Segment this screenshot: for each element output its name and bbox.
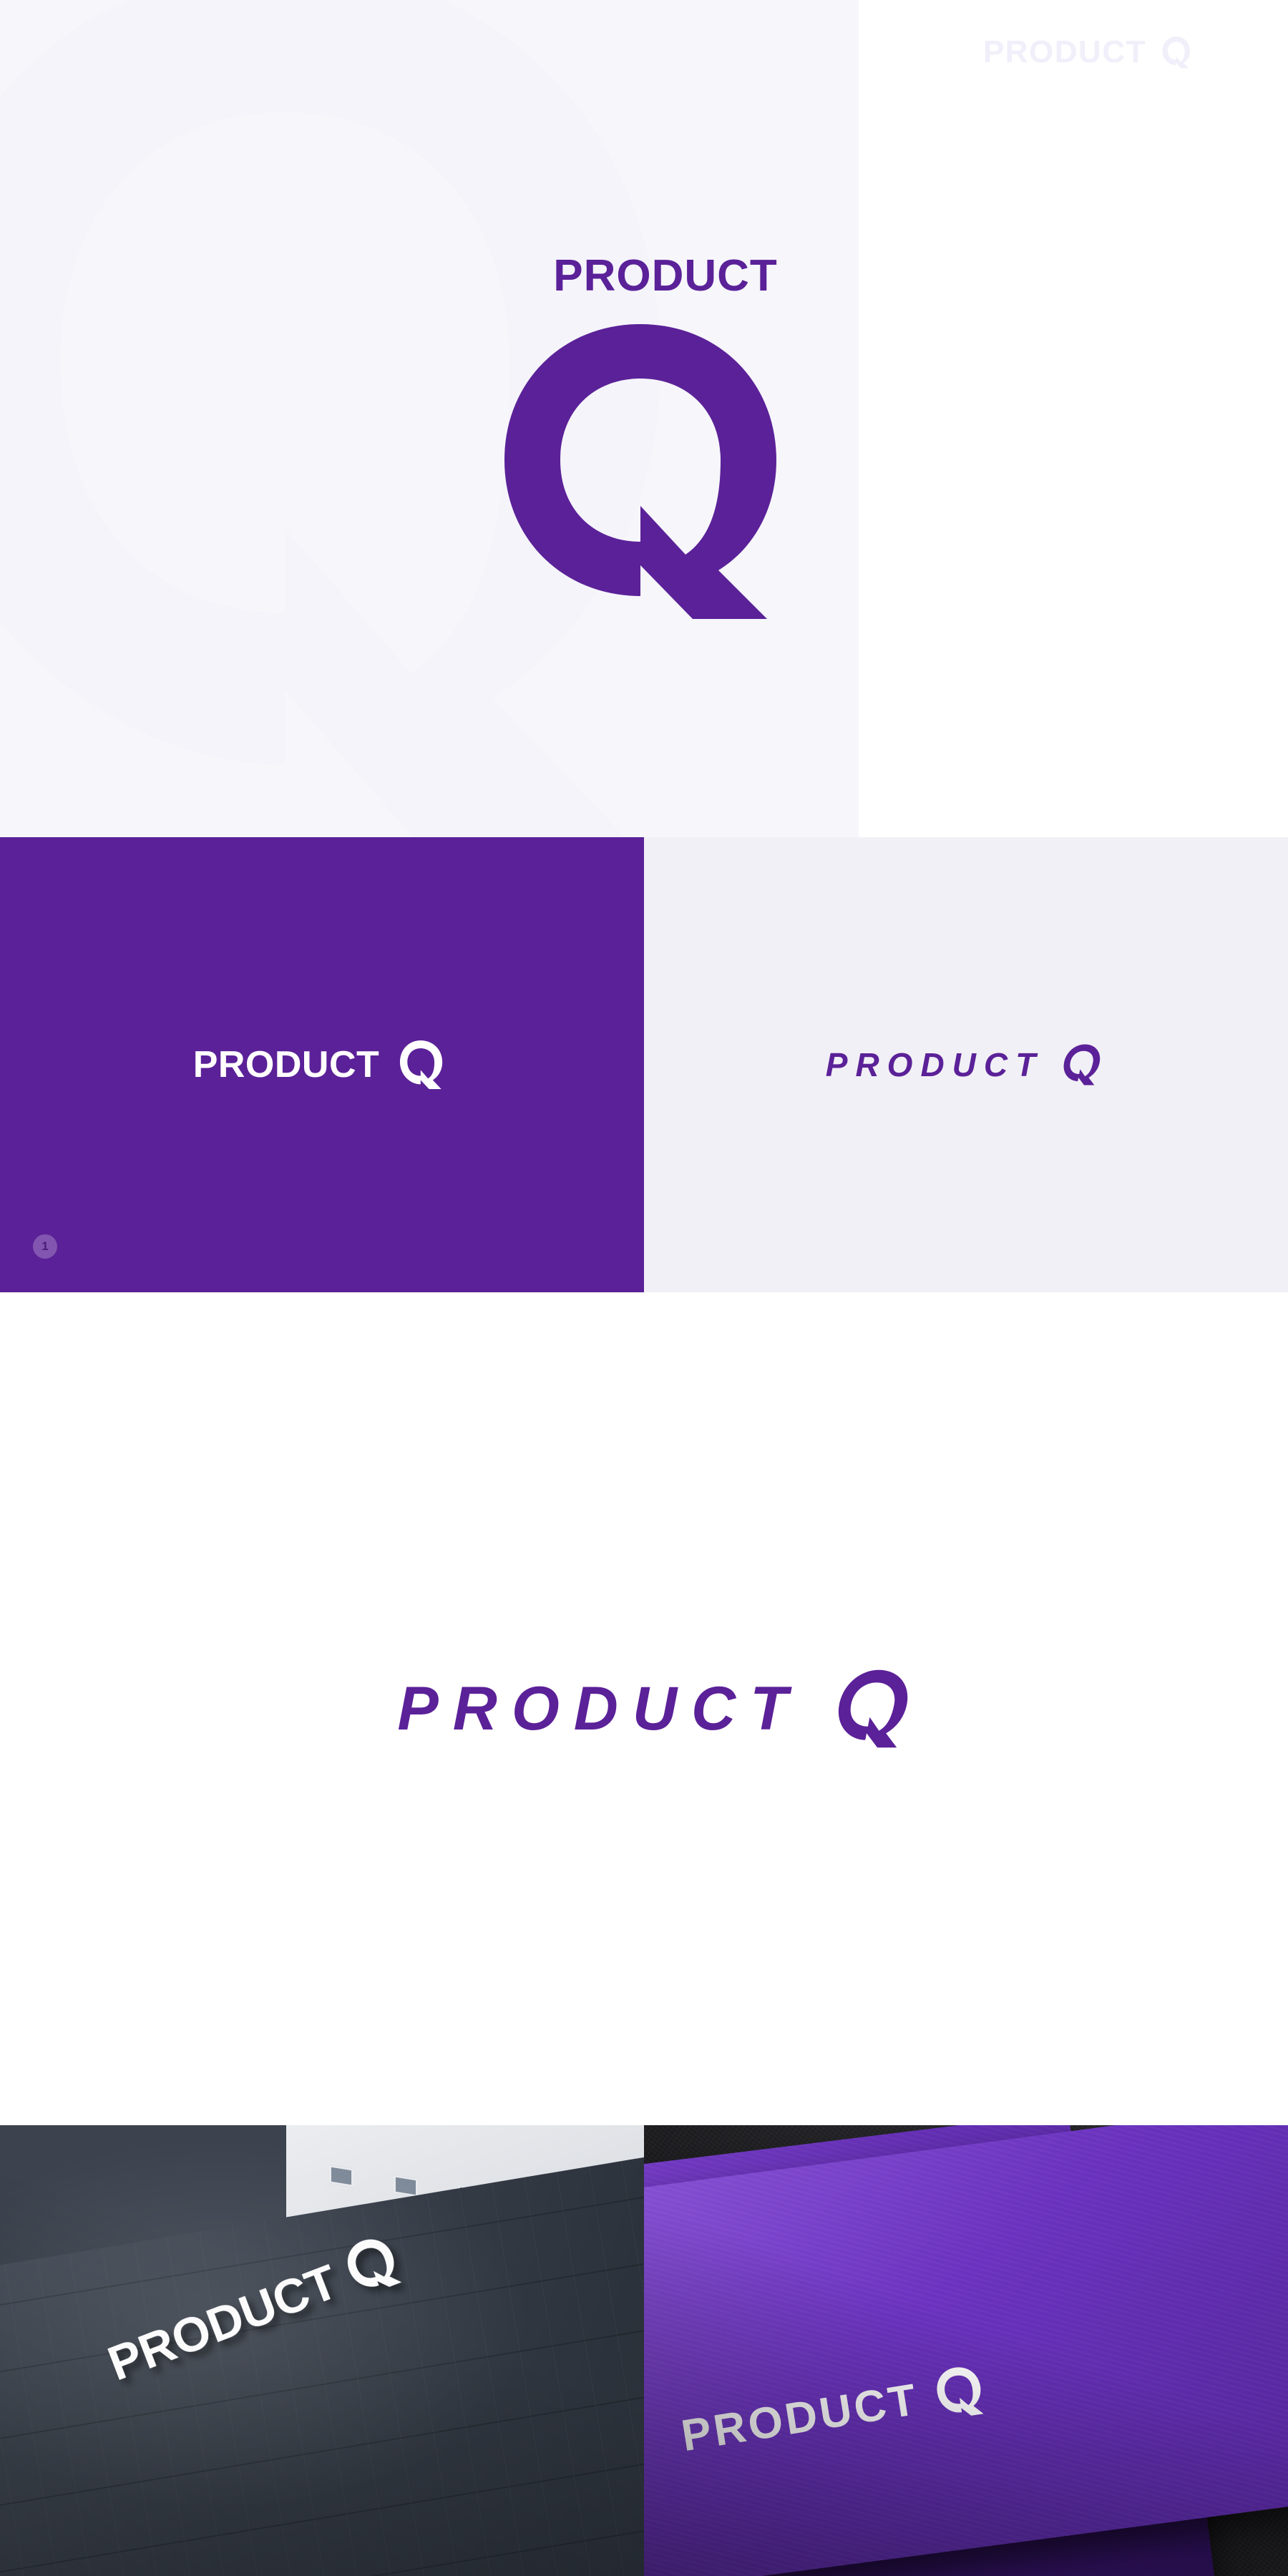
hero-primary-lockup: PRODUCT — [501, 254, 830, 569]
card-sheen-overlay — [644, 2125, 1288, 2576]
hero-section: PRODUCT PRODUCT — [0, 0, 1288, 837]
logo-variant-card-reversed[interactable]: PRODUCT 1 — [0, 837, 644, 1292]
showcase-q-mark-icon — [826, 1667, 927, 1751]
reversed-wordmark: PRODUCT — [193, 1043, 380, 1086]
card-print-q-mark-icon — [931, 2361, 993, 2423]
wordmark-lockup: PRODUCT — [0, 1667, 1288, 1751]
italic-q-mark-icon — [1058, 1043, 1111, 1087]
italic-lockup: PRODUCT — [644, 1043, 1288, 1087]
hero-wordmark: PRODUCT — [553, 254, 778, 298]
logo-variant-card-row: PRODUCT 1 PRODUCT 2 — [0, 837, 1288, 1292]
watermark-q-mark-icon — [1159, 34, 1195, 70]
mockup-business-cards[interactable]: PRODUCT — [644, 2125, 1288, 2576]
brand-presentation-page: PRODUCT PRODUCT PRODUCT — [0, 0, 1288, 2576]
hero-watermark-lockup: PRODUCT — [983, 34, 1195, 70]
card-number-badge-1: 1 — [33, 1234, 57, 1259]
business-card-front: PRODUCT — [644, 2125, 1288, 2576]
italic-wordmark: PRODUCT — [826, 1045, 1043, 1084]
reversed-q-mark-icon — [398, 1038, 451, 1091]
mockup-row: PRODUCT PRODUCT — [0, 2125, 1288, 2576]
reversed-lockup: PRODUCT — [0, 1038, 644, 1091]
showcase-wordmark: PRODUCT — [397, 1678, 801, 1740]
wordmark-showcase-section: PRODUCT — [0, 1292, 1288, 2125]
watermark-wordmark: PRODUCT — [983, 34, 1146, 70]
logo-variant-card-italic[interactable]: PRODUCT 2 — [644, 837, 1288, 1292]
mockup-building-facade[interactable]: PRODUCT — [0, 2125, 644, 2576]
wall-lighting-overlay — [0, 2125, 644, 2576]
hero-q-mark-icon — [501, 318, 830, 569]
